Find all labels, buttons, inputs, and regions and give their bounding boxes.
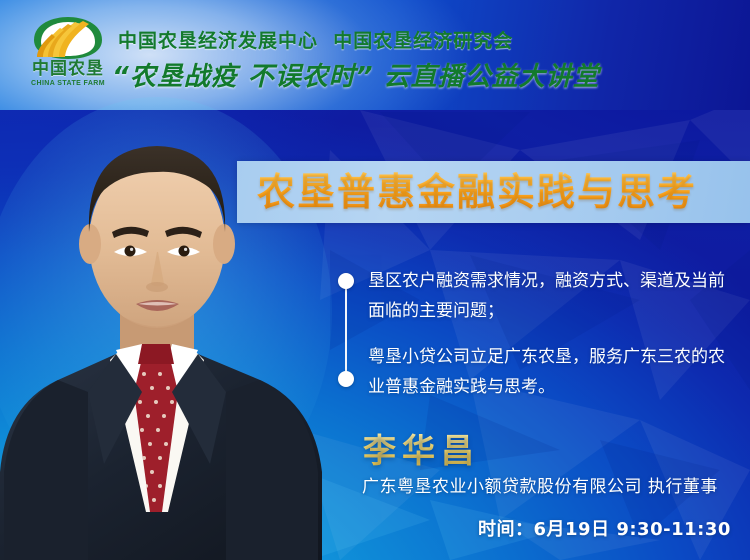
organizer-names: 中国农垦经济发展中心 中国农垦经济研究会 — [118, 26, 513, 53]
event-time: 时间：6月19日 9:30-11:30 — [478, 515, 731, 541]
bullet-dot-icon — [338, 371, 354, 387]
green-oval-golden-field-icon — [28, 16, 108, 60]
bullet-rail — [338, 274, 354, 380]
topic-text-block: 垦区农户融资需求情况，融资方式、渠道及当前面临的主要问题； 粤垦小贷公司立足广东… — [368, 266, 740, 402]
china-state-farm-logo: 中国农垦 CHINA STATE FARM — [22, 16, 114, 94]
speaker-title: 广东粤垦农业小额贷款股份有限公司 执行董事 — [362, 472, 718, 497]
bullet-connector-line — [345, 280, 347, 380]
campaign-title: “农垦战疫 不误农时” 云直播公益大讲堂 — [112, 56, 600, 93]
main-title: 农垦普惠金融实践与思考 — [257, 169, 697, 215]
logo-english-text: CHINA STATE FARM — [22, 80, 114, 87]
logo-chinese-text: 中国农垦 — [22, 60, 114, 79]
webinar-poster: 中国农垦 CHINA STATE FARM 中国农垦经济发展中心 中国农垦经济研… — [0, 0, 750, 560]
bullet-dot-icon — [338, 273, 354, 289]
list-item: 粤垦小贷公司立足广东农垦，服务广东三农的农业普惠金融实践与思考。 — [368, 342, 740, 402]
main-title-band: 农垦普惠金融实践与思考 — [237, 161, 750, 223]
speaker-name: 李华昌 — [363, 424, 480, 472]
list-item: 垦区农户融资需求情况，融资方式、渠道及当前面临的主要问题； — [368, 266, 740, 326]
